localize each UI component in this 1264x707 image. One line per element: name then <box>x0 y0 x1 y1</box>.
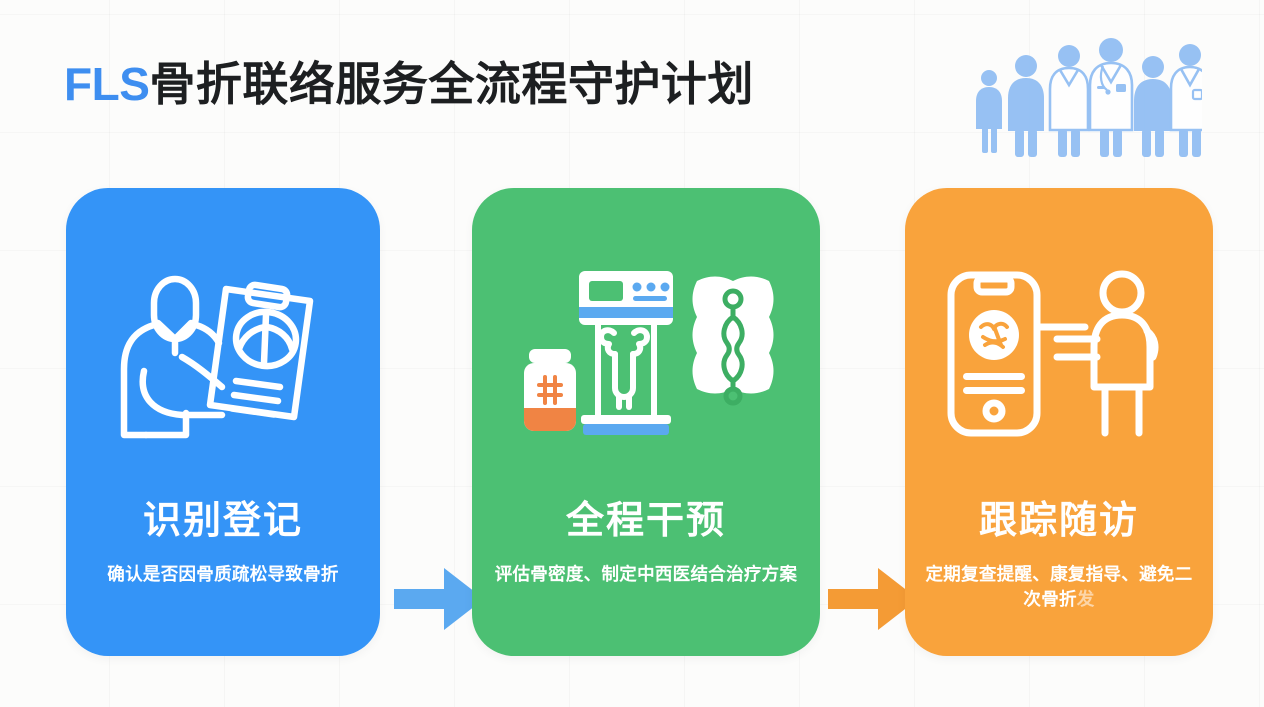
flow-step-description-trailing: 发 <box>1077 589 1095 609</box>
flow-step-card-3[interactable]: 跟踪随访 定期复查提醒、康复指导、避免二次骨折发 <box>905 188 1213 656</box>
flow-step-description: 评估骨密度、制定中西医结合治疗方案 <box>473 562 820 587</box>
flow-step-description: 确认是否因骨质疏松导致骨折 <box>85 562 360 587</box>
flow-step-title: 跟踪随访 <box>979 502 1139 540</box>
medical-team-silhouettes-icon <box>964 28 1202 160</box>
doctor-with-clipboard-xray-icon <box>108 260 338 450</box>
page-title: FLS 骨折联络服务全流程守护计划 <box>64 48 754 114</box>
smartphone-telehealth-patient-icon <box>939 260 1179 450</box>
medicine-bottle-densitometer-xray-icon <box>501 260 791 450</box>
flow-step-title: 识别登记 <box>143 502 303 540</box>
process-flow: 识别登记 确认是否因骨质疏松导致骨折 <box>0 188 1264 658</box>
flow-step-card-2[interactable]: 全程干预 评估骨密度、制定中西医结合治疗方案 <box>472 188 820 656</box>
flow-step-description-text: 定期复查提醒、康复指导、避免二次骨折 <box>926 564 1193 609</box>
flow-step-description: 定期复查提醒、康复指导、避免二次骨折发 <box>905 562 1213 613</box>
page-title-accent: FLS <box>64 57 149 111</box>
flow-step-card-1[interactable]: 识别登记 确认是否因骨质疏松导致骨折 <box>66 188 380 656</box>
page-title-main: 骨折联络服务全流程守护计划 <box>149 48 754 114</box>
flow-step-title: 全程干预 <box>566 502 726 540</box>
